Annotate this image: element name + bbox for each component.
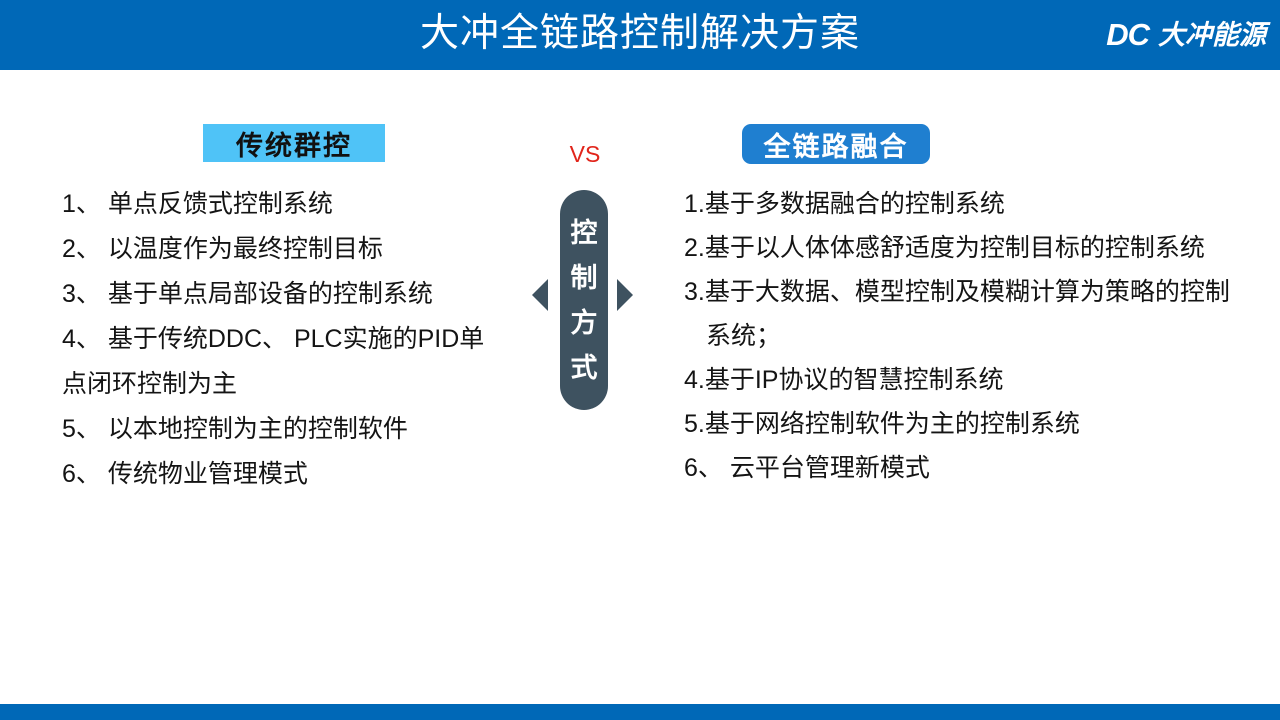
list-item: 2.基于以人体体感舒适度为控制目标的控制系统 [684,226,1280,270]
pill-char: 控 [571,211,598,256]
list-item: 4、 基于传统DDC、 PLC实施的PID单 [62,317,532,362]
list-item: 5.基于网络控制软件为主的控制系统 [684,402,1280,446]
right-column-list: 1.基于多数据融合的控制系统 2.基于以人体体感舒适度为控制目标的控制系统 3.… [684,182,1280,490]
footer-bar [0,704,1280,720]
arrow-right-icon [617,279,633,311]
list-item: 2、 以温度作为最终控制目标 [62,227,532,272]
list-item: 4.基于IP协议的智慧控制系统 [684,358,1280,402]
list-item-continuation: 系统； [684,314,1280,358]
pill-char: 式 [571,346,598,391]
slide-canvas: 大冲全链路控制解决方案 DC 大冲能源 传统群控 1、 单点反馈式控制系统 2、… [0,0,1280,720]
logo-company-name: 大冲能源 [1158,19,1266,51]
brand-logo: DC 大冲能源 [1106,14,1266,56]
right-column-heading: 全链路融合 [742,124,930,164]
list-item: 6、 传统物业管理模式 [62,452,532,497]
arrow-left-icon [532,279,548,311]
logo-mark-text: DC [1106,18,1149,52]
page-title: 大冲全链路控制解决方案 [0,8,1280,60]
vs-label: VS [540,140,630,168]
list-item: 1.基于多数据融合的控制系统 [684,182,1280,226]
list-item: 5、 以本地控制为主的控制软件 [62,407,532,452]
list-item: 1、 单点反馈式控制系统 [62,182,532,227]
list-item: 3、 基于单点局部设备的控制系统 [62,272,532,317]
comparison-axis-pill: 控 制 方 式 [560,190,608,410]
left-column-heading: 传统群控 [203,124,385,162]
list-item: 6、 云平台管理新模式 [684,446,1280,490]
list-item-continuation: 点闭环控制为主 [62,362,532,407]
list-item: 3.基于大数据、模型控制及模糊计算为策略的控制 [684,270,1280,314]
pill-char: 制 [571,256,598,301]
pill-char: 方 [571,301,598,346]
left-column-list: 1、 单点反馈式控制系统 2、 以温度作为最终控制目标 3、 基于单点局部设备的… [62,182,532,497]
